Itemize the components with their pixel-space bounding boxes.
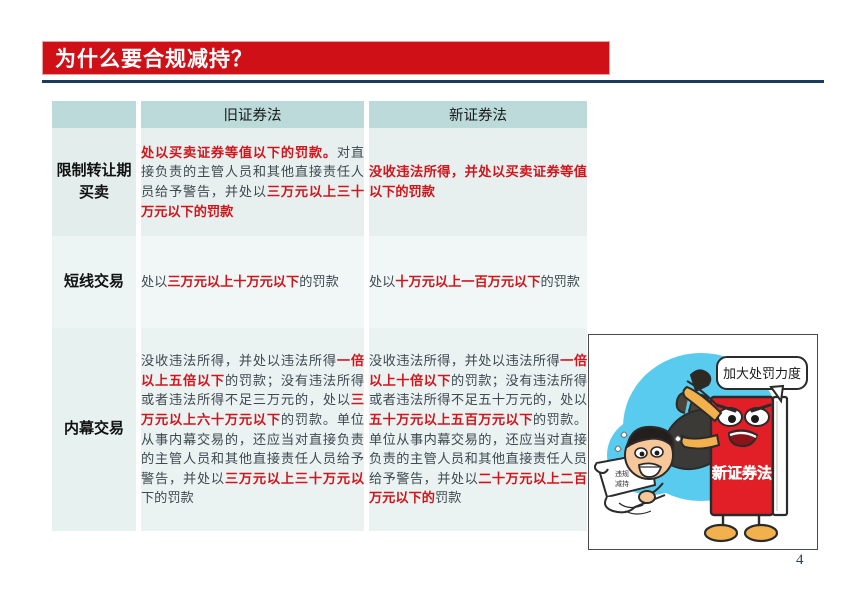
table-row: 内幕交易 没收违法所得，并处以违法所得一倍以上五倍以下的罚款；没有违法所得或者违… <box>52 328 587 531</box>
header-old-law: 旧证券法 <box>141 101 364 128</box>
row-label-2: 内幕交易 <box>52 328 136 531</box>
speech-bubble-text: 加大处罚力度 <box>723 366 801 381</box>
table-header-row: 旧证券法 新证券法 <box>52 101 587 128</box>
body-text: 下的罚款 <box>141 490 194 505</box>
body-text: 的罚款 <box>299 274 339 289</box>
law-comparison-table: 旧证券法 新证券法 限制转让期买卖 处以买卖证券等值以下的罚款。对直接负责的主管… <box>52 101 587 531</box>
cell-new-law-1: 处以十万元以上一百万元以下的罚款 <box>369 236 587 328</box>
row-label-1: 短线交易 <box>52 236 136 328</box>
title-underline-rule <box>42 80 824 83</box>
header-new-law: 新证券法 <box>369 101 587 128</box>
highlighted-text: 五十万元以上五百万元以下 <box>369 412 533 427</box>
scroll-label-line2: 减持 <box>615 479 629 488</box>
table-body: 限制转让期买卖 处以买卖证券等值以下的罚款。对直接负责的主管人员和其他直接责任人… <box>52 128 587 531</box>
table-row: 短线交易 处以三万元以上十万元以下的罚款 处以十万元以上一百万元以下的罚款 <box>52 236 587 328</box>
body-text: 处以 <box>369 274 395 289</box>
header-corner <box>52 101 136 128</box>
cell-old-law-2: 没收违法所得，并处以违法所得一倍以上五倍以下的罚款；没有违法所得或者违法所得不足… <box>141 328 364 531</box>
page-number: 4 <box>796 552 804 569</box>
highlighted-text: 十万元以上一百万元以下 <box>395 274 540 289</box>
body-text: 没收违法所得，并处以违法所得 <box>141 353 337 368</box>
highlighted-text: 没收违法所得，并处以买卖证券等值以下的罚款 <box>369 164 587 199</box>
highlighted-text: 处以买卖证券等值以下的罚款。 <box>141 145 337 160</box>
scroll-label-line1: 违规 <box>615 469 629 478</box>
cell-new-law-0: 没收违法所得，并处以买卖证券等值以下的罚款 <box>369 128 587 236</box>
highlighted-text: 三万元以上十万元以下 <box>167 274 299 289</box>
page-title: 为什么要合规减持？ <box>43 43 253 73</box>
row-label-0: 限制转让期买卖 <box>52 128 136 236</box>
book-label: 新证券法 <box>712 464 772 482</box>
body-text: 没收违法所得，并处以违法所得 <box>369 353 560 368</box>
slide-title-banner: 为什么要合规减持？ <box>42 41 610 75</box>
cell-new-law-2: 没收违法所得，并处以违法所得一倍以上十倍以下的罚款；没有违法所得或者违法所得不足… <box>369 328 587 531</box>
table-row: 限制转让期买卖 处以买卖证券等值以下的罚款。对直接负责的主管人员和其他直接责任人… <box>52 128 587 236</box>
enforcement-cartoon-illustration: 违规 减持 <box>588 334 818 550</box>
body-text: 罚款 <box>435 490 461 505</box>
body-text: 处以 <box>141 274 167 289</box>
cell-old-law-0: 处以买卖证券等值以下的罚款。对直接负责的主管人员和其他直接责任人员给予警告，并处… <box>141 128 364 236</box>
cell-old-law-1: 处以三万元以上十万元以下的罚款 <box>141 236 364 328</box>
body-text: 的罚款 <box>540 274 580 289</box>
highlighted-text: 三万元以上三十万元以 <box>225 471 364 486</box>
